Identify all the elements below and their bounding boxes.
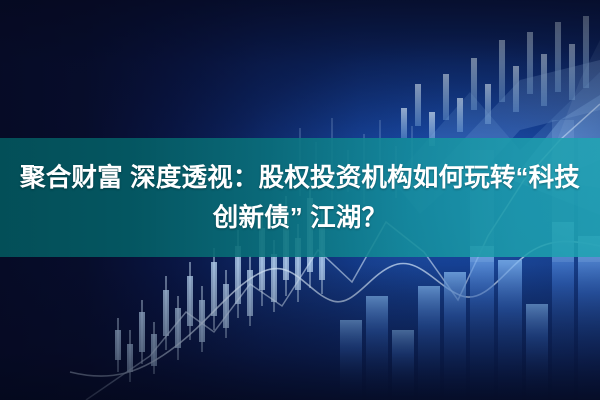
page-title: 聚合财富 深度透视：股权投资机构如何玩转“科技创新债” 江湖？ [9, 158, 591, 238]
title-band: 聚合财富 深度透视：股权投资机构如何玩转“科技创新债” 江湖？ [0, 138, 600, 257]
finance-news-banner: 聚合财富 深度透视：股权投资机构如何玩转“科技创新债” 江湖？ [0, 0, 600, 400]
